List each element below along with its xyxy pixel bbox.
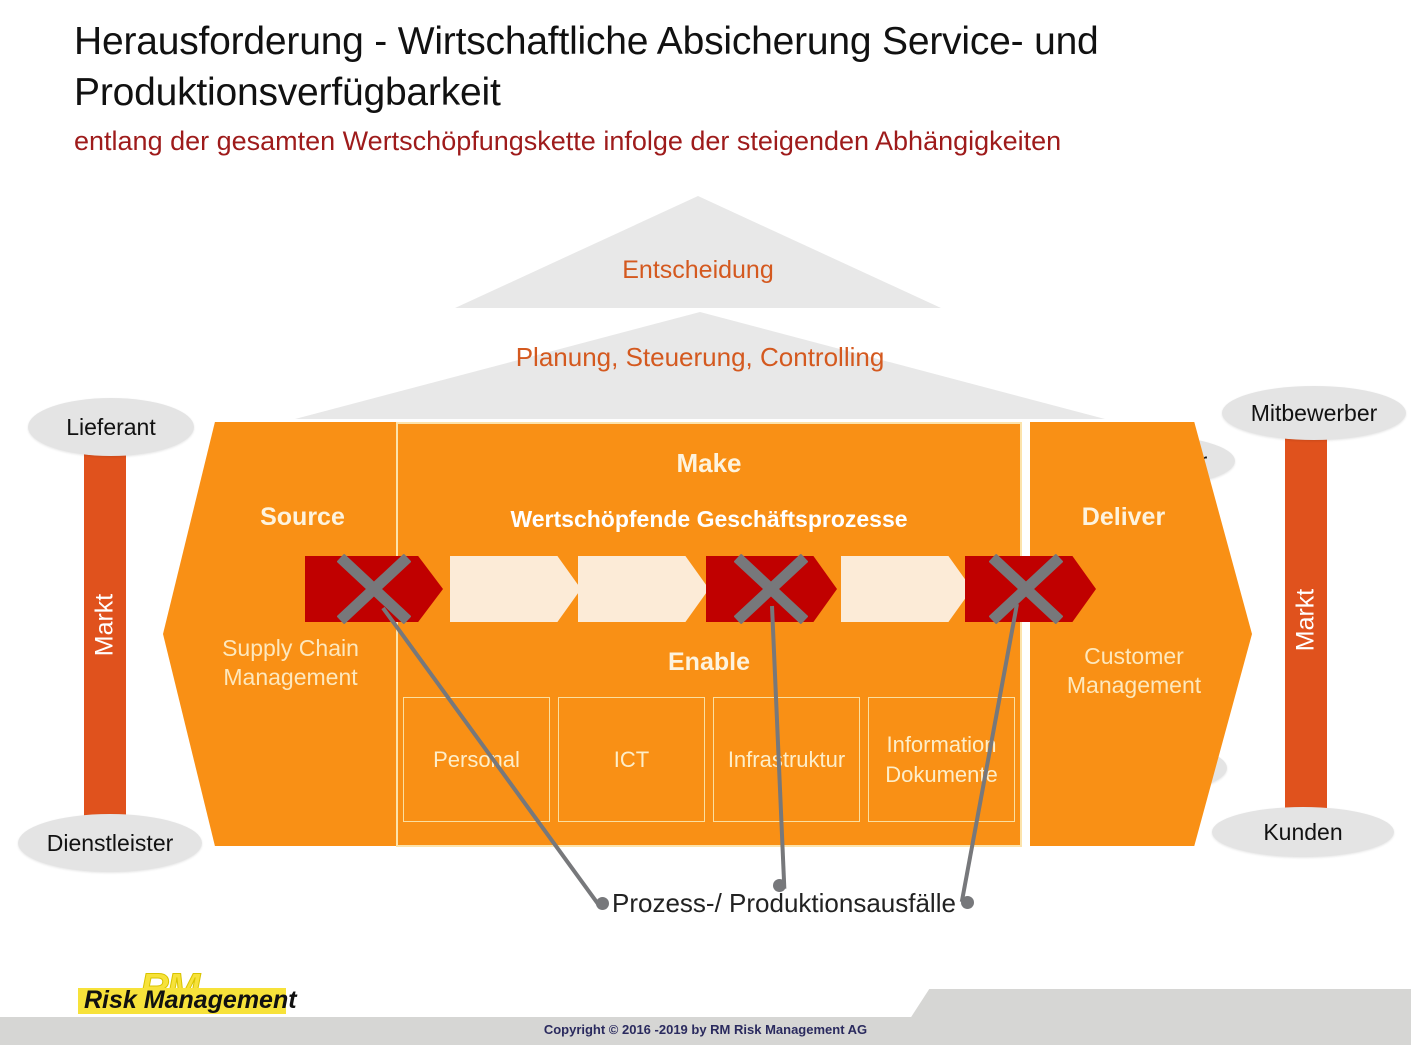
pyramid-tier-top-label: Entscheidung (455, 256, 941, 285)
copyright-text: Copyright © 2016 -2019 by RM Risk Manage… (0, 1022, 1411, 1037)
make-subtitle: Wertschöpfende Geschäftsprozesse (396, 506, 1022, 533)
rm-logo-wordmark: Risk Management (84, 986, 284, 1015)
enable-cell-label: Infrastruktur (728, 745, 845, 775)
enable-cell-label: Personal (433, 745, 520, 775)
enable-cell-ict: ICT (558, 697, 705, 822)
source-title: Source (205, 503, 400, 532)
stakeholder-lieferant: Lieferant (28, 398, 194, 456)
enable-cell-information-dokumente: Information Dokumente (868, 697, 1015, 822)
stakeholder-dienstleister-left: Dienstleister (18, 814, 202, 872)
source-subtitle: Supply Chain Management (178, 634, 403, 692)
failure-x-icon-1 (330, 545, 418, 633)
page-subtitle: entlang der gesamten Wertschöpfungskette… (74, 124, 1324, 158)
failure-label: Prozess-/ Produktionsausfälle (612, 888, 972, 919)
deliver-chevron (1030, 422, 1252, 846)
market-bar-left: Markt (84, 425, 126, 825)
deliver-title: Deliver (1036, 503, 1211, 532)
page-title: Herausforderung - Wirtschaftliche Absich… (74, 16, 1304, 118)
process-step-3 (578, 556, 709, 622)
failure-x-icon-3 (982, 545, 1070, 633)
enable-cell-label: ICT (614, 745, 649, 775)
make-title: Make (396, 448, 1022, 479)
market-bar-right-label: Markt (1292, 589, 1321, 652)
enable-title: Enable (396, 648, 1022, 677)
stakeholder-kunden: Kunden (1212, 807, 1394, 857)
process-step-2 (450, 556, 581, 622)
slide-canvas: Herausforderung - Wirtschaftliche Absich… (0, 0, 1411, 1045)
market-bar-left-label: Markt (91, 594, 120, 657)
market-bar-right: Markt (1285, 420, 1327, 820)
pyramid-tier-bottom-label: Planung, Steuerung, Controlling (295, 342, 1105, 373)
deliver-subtitle: Customer Management (1034, 642, 1234, 700)
stakeholder-mitbewerber: Mitbewerber (1222, 386, 1406, 440)
leader-dot-1 (596, 897, 609, 910)
pyramid-tier-top (455, 196, 941, 308)
enable-cell-infrastruktur: Infrastruktur (713, 697, 860, 822)
rm-logo: RM Risk Management (78, 982, 286, 1016)
process-step-5 (841, 556, 972, 622)
